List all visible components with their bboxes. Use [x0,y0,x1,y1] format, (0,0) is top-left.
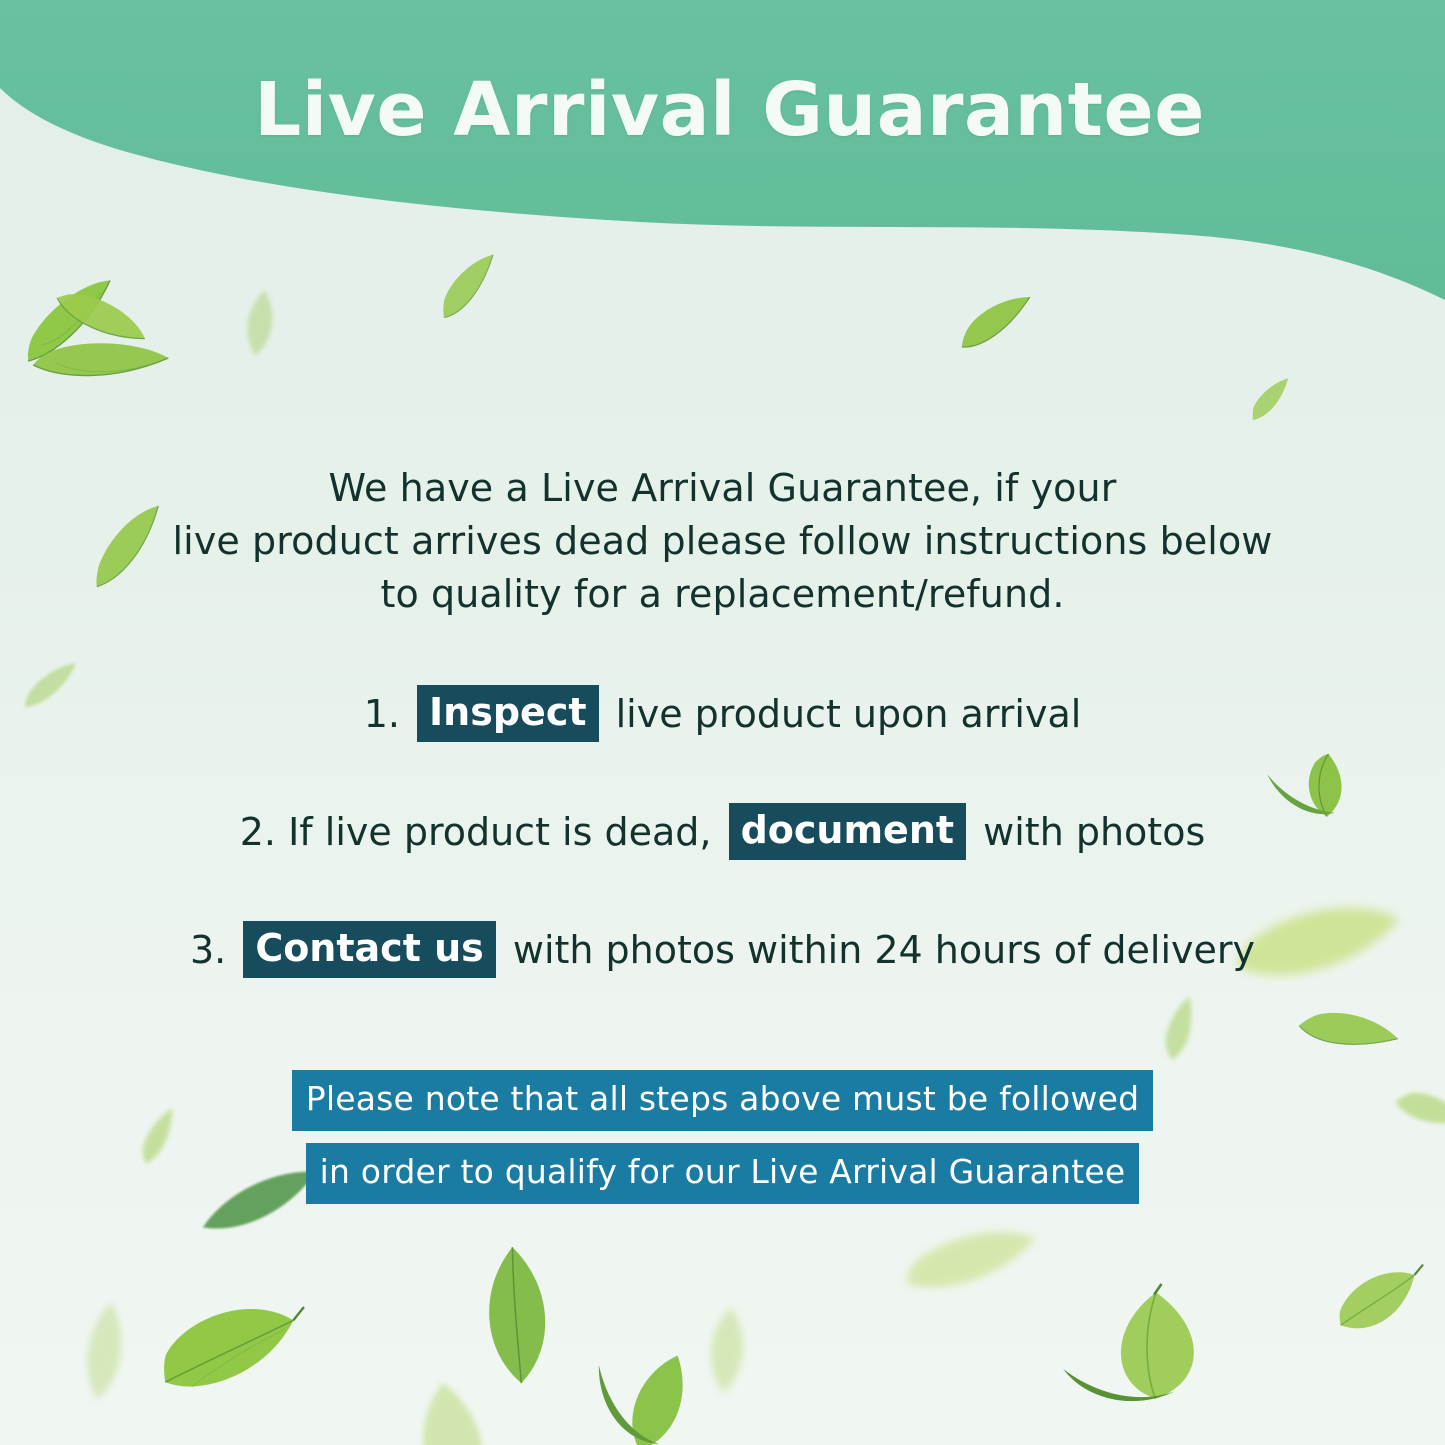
step-2-number: 2. [240,810,276,854]
intro-line-2: live product arrives dead please follow … [0,515,1445,568]
step-1-text-after: live product upon arrival [616,692,1082,736]
live-arrival-guarantee-poster: Live Arrival Guarantee [0,0,1445,1445]
falling-leaf-icon [139,1271,311,1408]
instruction-step-1: 1. Inspect live product upon arrival [0,683,1445,745]
falling-leaf-icon [1321,1251,1436,1350]
falling-leaf-icon [388,1370,523,1445]
falling-leaf-icon [699,1303,757,1396]
falling-leaf-icon [1292,985,1403,1081]
intro-line-3: to quality for a replacement/refund. [0,568,1445,621]
falling-leaf-icon [1147,992,1217,1065]
footer-note-group: Please note that all steps above must be… [0,1070,1445,1204]
falling-leaf-icon [560,1313,729,1445]
falling-leaf-icon [461,1239,576,1393]
page-title: Live Arrival Guarantee [0,72,1445,150]
footer-note-line-2: in order to qualify for our Live Arrival… [306,1143,1140,1204]
footer-note-line-1: Please note that all steps above must be… [292,1070,1154,1131]
instruction-step-2: 2. If live product is dead, document wit… [0,801,1445,863]
falling-leaf-icon [73,1297,138,1406]
step-3-text-after: with photos within 24 hours of delivery [513,928,1255,972]
instruction-steps-list: 1. Inspect live product upon arrival 2. … [0,683,1445,981]
step-2-text-after: with photos [983,810,1205,854]
instruction-step-3: 3. Contact us with photos within 24 hour… [0,919,1445,981]
step-2-text-before: If live product is dead, [288,810,711,854]
step-2-highlight-document[interactable]: document [729,803,966,860]
step-3-highlight-contact-us[interactable]: Contact us [243,921,495,978]
step-1-highlight-inspect[interactable]: Inspect [417,685,598,742]
step-3-number: 3. [190,928,226,972]
intro-line-1: We have a Live Arrival Guarantee, if you… [0,462,1445,515]
falling-leaf-icon [896,1216,1045,1301]
step-1-number: 1. [364,692,400,736]
falling-leaf-icon [1036,1284,1234,1417]
intro-paragraph: We have a Live Arrival Guarantee, if you… [0,462,1445,621]
